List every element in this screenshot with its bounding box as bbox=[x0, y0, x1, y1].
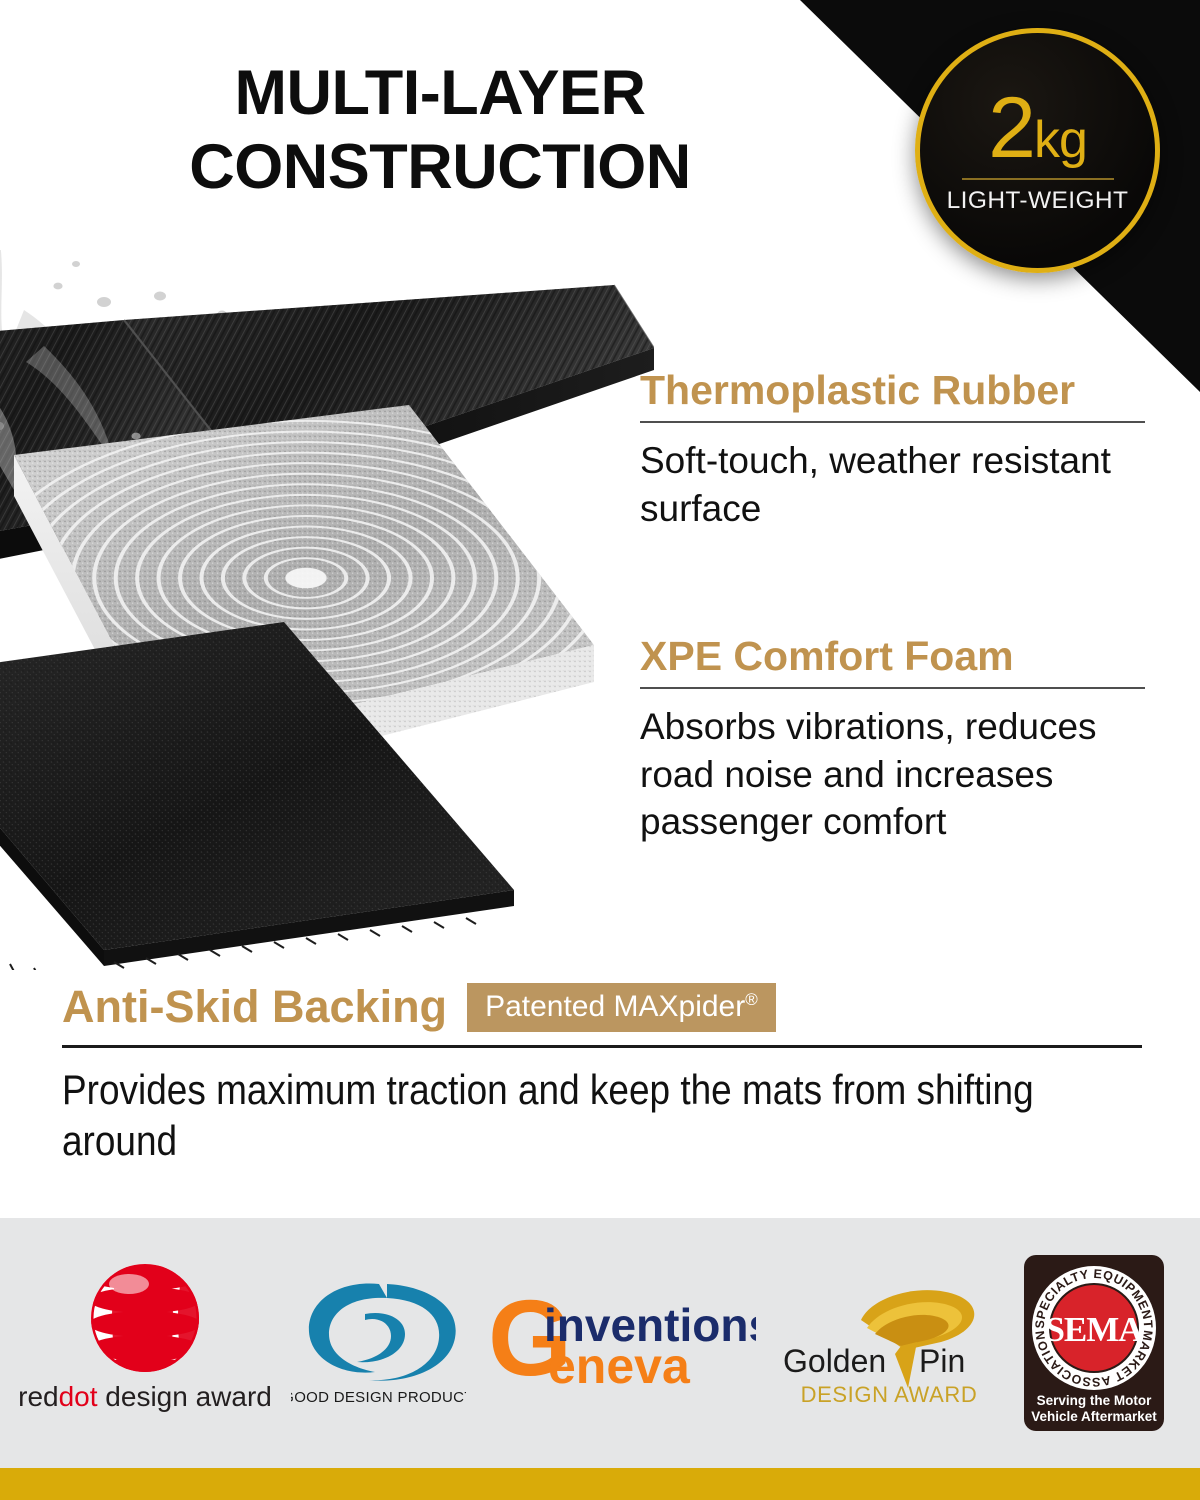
badge-unit: kg bbox=[1034, 111, 1087, 169]
page-title: MULTI-LAYER CONSTRUCTION bbox=[0, 56, 880, 205]
feature-divider bbox=[640, 421, 1145, 423]
badge-caption: LIGHT-WEIGHT bbox=[947, 187, 1129, 215]
feature-divider bbox=[640, 687, 1145, 689]
geneva-word: eneva bbox=[548, 1338, 691, 1394]
light-weight-badge: 2kg LIGHT-WEIGHT bbox=[915, 28, 1160, 273]
golden-pin-logo: Golden Pin DESIGN AWARD bbox=[777, 1276, 1002, 1411]
reddot-sphere-icon bbox=[89, 1262, 201, 1382]
award-reddot: reddot design award bbox=[20, 1256, 270, 1431]
golden-pin-caption: DESIGN AWARD bbox=[800, 1382, 977, 1407]
sema-center-text: SEMA bbox=[1045, 1310, 1144, 1349]
sema-caption-line1: Serving the Motor bbox=[1037, 1393, 1153, 1408]
gd-swirl-icon bbox=[308, 1284, 455, 1381]
feature-thermoplastic-rubber: Thermoplastic Rubber Soft-touch, weather… bbox=[640, 368, 1145, 532]
award-inventions-geneva: G inventions eneva bbox=[486, 1283, 756, 1403]
feature-title: Anti-Skid Backing bbox=[62, 984, 447, 1029]
feature-body: Absorbs vibrations, reduces road noise a… bbox=[640, 703, 1145, 845]
feature-divider bbox=[62, 1045, 1142, 1048]
reddot-wordmark: reddot design award bbox=[20, 1381, 270, 1412]
reddot-logo: reddot design award bbox=[20, 1256, 270, 1431]
award-golden-pin: Golden Pin DESIGN AWARD bbox=[777, 1276, 1002, 1411]
sema-logo: SPECIALTY EQUIPMENT MARKET ASSOCIATION S… bbox=[1022, 1253, 1166, 1433]
feature-body: Provides maximum traction and keep the m… bbox=[62, 1064, 1144, 1166]
feature-xpe-comfort-foam: XPE Comfort Foam Absorbs vibrations, red… bbox=[640, 634, 1145, 845]
sema-caption-line2: Vehicle Aftermarket bbox=[1031, 1409, 1157, 1424]
badge-divider bbox=[962, 178, 1114, 180]
badge-number: 2 bbox=[988, 80, 1034, 176]
infographic-poster: MULTI-LAYER CONSTRUCTION 2kg LIGHT-WEIGH… bbox=[0, 0, 1200, 1500]
feature-title: XPE Comfort Foam bbox=[640, 634, 1145, 678]
feature-body: Soft-touch, weather resistant surface bbox=[640, 437, 1145, 532]
pin-word: Pin bbox=[919, 1343, 965, 1379]
patented-maxpider-badge: Patented MAXpider® bbox=[467, 983, 776, 1032]
good-design-logo: GOOD DESIGN PRODUCT bbox=[291, 1268, 466, 1418]
feature-anti-skid-backing: Anti-Skid Backing Patented MAXpider® Pro… bbox=[62, 982, 1142, 1166]
award-sema: SPECIALTY EQUIPMENT MARKET ASSOCIATION S… bbox=[1022, 1253, 1166, 1433]
feature-title: Thermoplastic Rubber bbox=[640, 368, 1145, 412]
golden-word: Golden bbox=[783, 1343, 886, 1379]
badge-weight-value: 2kg bbox=[988, 86, 1087, 176]
product-art-svg bbox=[0, 250, 654, 970]
anti-skid-heading-row: Anti-Skid Backing Patented MAXpider® bbox=[62, 982, 1142, 1031]
bottom-accent-bar bbox=[0, 1468, 1200, 1500]
title-line-2: CONSTRUCTION bbox=[0, 130, 880, 204]
patent-chip-text: Patented MAXpider bbox=[485, 990, 745, 1023]
registered-mark-icon: ® bbox=[745, 990, 758, 1009]
product-layers-illustration bbox=[0, 250, 654, 970]
inventions-geneva-logo: G inventions eneva bbox=[486, 1283, 756, 1403]
awards-strip: reddot design award GOOD DESIGN PRODUCT bbox=[0, 1218, 1200, 1468]
good-design-caption: GOOD DESIGN PRODUCT bbox=[291, 1389, 466, 1406]
title-line-1: MULTI-LAYER bbox=[0, 56, 880, 130]
award-good-design-product: GOOD DESIGN PRODUCT bbox=[291, 1268, 466, 1418]
